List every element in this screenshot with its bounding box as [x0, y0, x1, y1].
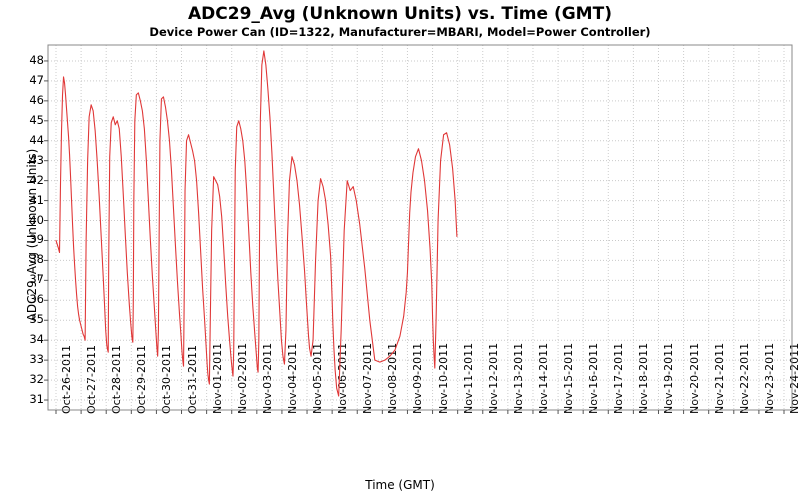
- plot-area: [0, 0, 800, 500]
- chart-container: ADC29_Avg (Unknown Units) vs. Time (GMT)…: [0, 0, 800, 500]
- axis-ticks: [44, 61, 784, 414]
